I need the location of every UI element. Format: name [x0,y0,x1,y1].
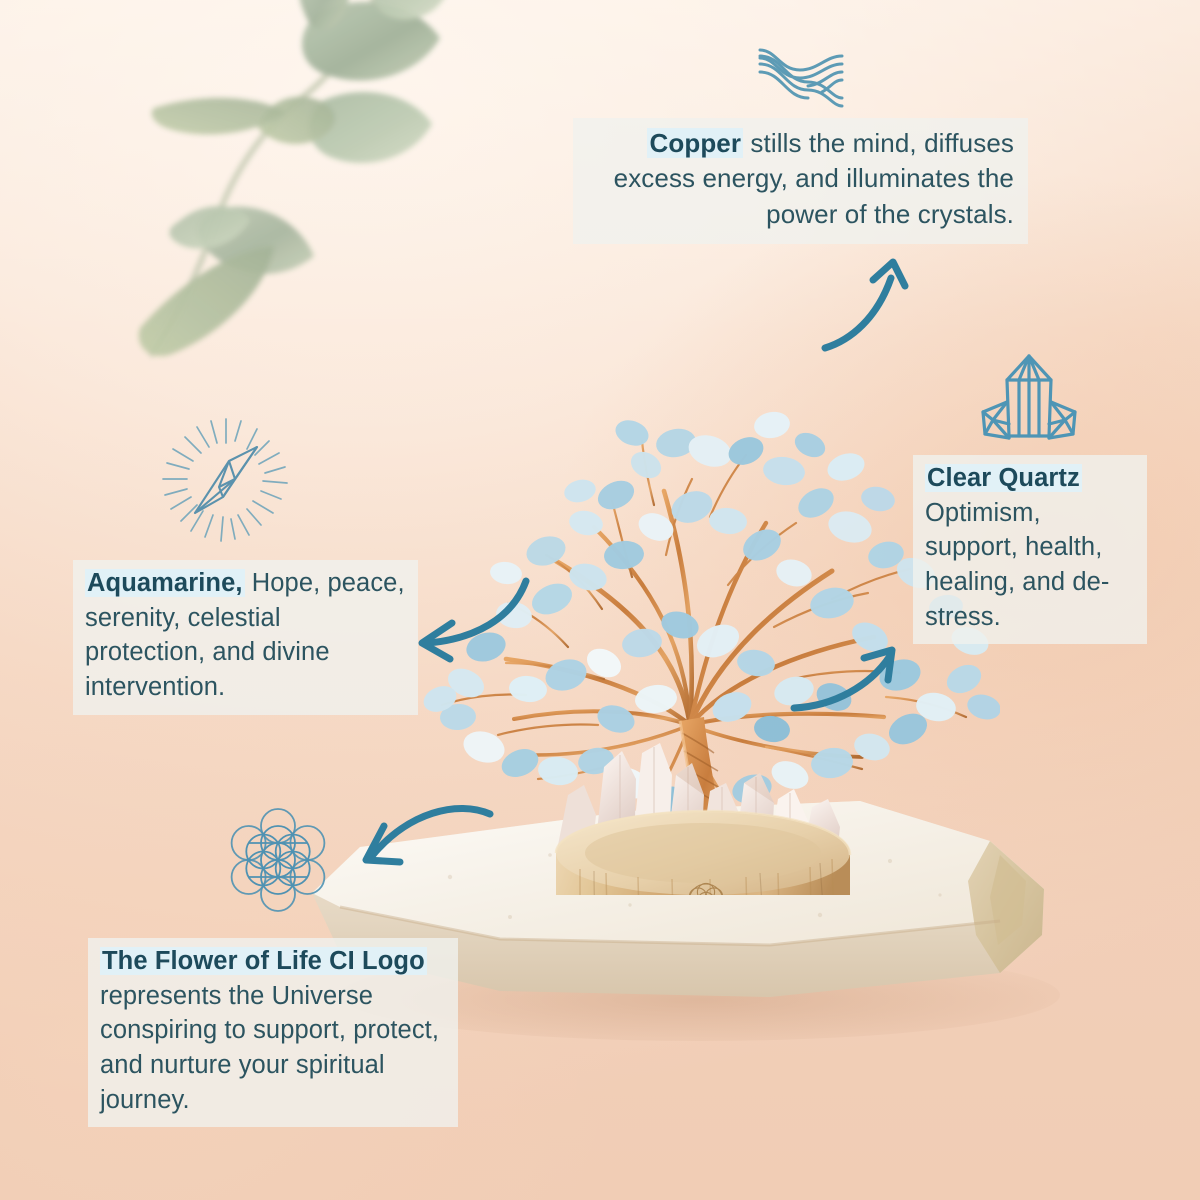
flower-body-text: represents the Universe conspiring to su… [100,982,439,1114]
wooden-base [556,811,850,895]
infographic-canvas: Copper stills the mind, diffuses excess … [0,0,1200,1200]
quartz-annotation: Clear Quartz Optimism, support, health, … [913,455,1147,644]
copper-annotation: Copper stills the mind, diffuses excess … [573,118,1028,244]
flower-text-panel: The Flower of Life CI Logo represents th… [88,938,458,1127]
quartz-bold-term: Clear Quartz [925,464,1082,492]
curved-arrow-down-left-flower [338,768,508,883]
quartz-body-text: Optimism, support, health, healing, and … [925,499,1110,631]
aquamarine-text-panel: Aquamarine, Hope, peace, serenity, celes… [73,560,418,715]
flower-of-life-annotation: The Flower of Life CI Logo represents th… [88,938,458,1127]
copper-text-panel: Copper stills the mind, diffuses excess … [573,118,1028,244]
aquamarine-bold-term: Aquamarine, [85,569,245,597]
copper-bold-term: Copper [647,128,743,158]
aquamarine-annotation: Aquamarine, Hope, peace, serenity, celes… [73,560,418,715]
quartz-text-panel: Clear Quartz Optimism, support, health, … [913,455,1147,644]
flower-bold-term: The Flower of Life CI Logo [100,947,427,975]
curved-arrow-up-right-quartz [778,622,908,727]
curved-arrow-left-aquamarine [408,563,538,668]
curved-arrow-up-right-copper [815,248,925,358]
